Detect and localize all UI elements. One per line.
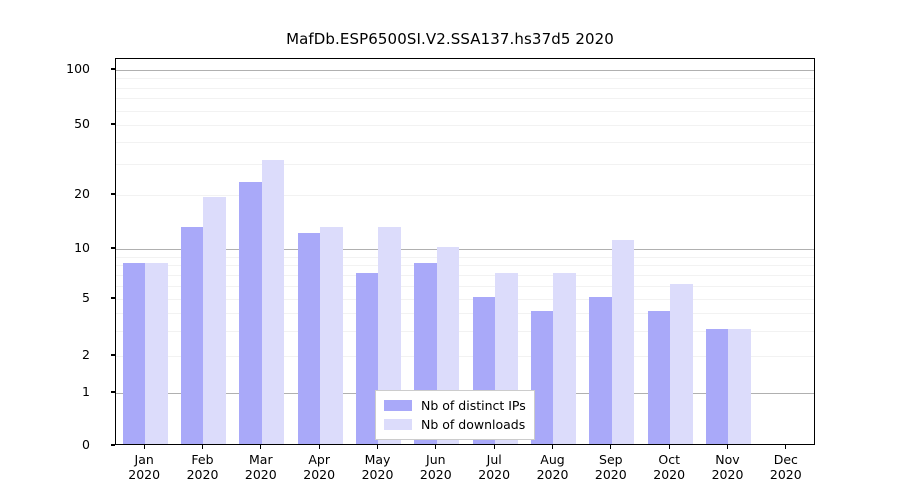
bar-group xyxy=(524,59,582,444)
x-tick-year: 2020 xyxy=(537,467,569,482)
y-tick-label: 100 xyxy=(30,61,90,76)
bar-distinct-ips xyxy=(706,329,728,444)
x-tick-mark xyxy=(669,445,670,449)
x-tick-month: Mar xyxy=(245,452,277,467)
bar-group xyxy=(583,59,641,444)
bar-group xyxy=(233,59,291,444)
x-tick-month: Feb xyxy=(187,452,219,467)
bar-distinct-ips xyxy=(298,233,320,444)
bar-distinct-ips xyxy=(123,263,145,444)
x-tick-month: Nov xyxy=(712,452,744,467)
y-tick-mark xyxy=(111,68,115,69)
x-tick-month: Jun xyxy=(420,452,452,467)
y-tick-mark xyxy=(111,123,115,124)
x-tick-mark xyxy=(144,445,145,449)
x-tick-mark xyxy=(552,445,553,449)
bar-group xyxy=(116,59,174,444)
chart-title: MafDb.ESP6500SI.V2.SSA137.hs37d5 2020 xyxy=(0,30,900,48)
bar-group xyxy=(174,59,232,444)
bar-group xyxy=(699,59,757,444)
x-tick-mark xyxy=(610,445,611,449)
y-tick-mark xyxy=(111,297,115,298)
x-tick-label: Mar2020 xyxy=(245,452,277,482)
bar-distinct-ips xyxy=(181,227,203,444)
x-tick-year: 2020 xyxy=(420,467,452,482)
y-tick-mark xyxy=(111,193,115,194)
y-tick-label: 20 xyxy=(30,186,90,201)
x-tick-month: Jan xyxy=(128,452,160,467)
legend-item-downloads: Nb of downloads xyxy=(384,415,526,434)
x-tick-year: 2020 xyxy=(187,467,219,482)
bar-downloads xyxy=(612,240,634,444)
bar-distinct-ips xyxy=(239,182,261,444)
x-tick-year: 2020 xyxy=(712,467,744,482)
x-tick-label: Dec2020 xyxy=(770,452,802,482)
x-tick-label: Jul2020 xyxy=(478,452,510,482)
x-tick-year: 2020 xyxy=(362,467,394,482)
bar-group xyxy=(466,59,524,444)
bar-group xyxy=(408,59,466,444)
bar-distinct-ips xyxy=(589,297,611,444)
x-tick-label: Feb2020 xyxy=(187,452,219,482)
bar-group xyxy=(291,59,349,444)
x-tick-mark xyxy=(202,445,203,449)
x-tick-mark xyxy=(785,445,786,449)
x-tick-mark xyxy=(435,445,436,449)
y-tick-label: 0 xyxy=(30,437,90,452)
x-tick-month: Aug xyxy=(537,452,569,467)
legend-label-downloads: Nb of downloads xyxy=(421,417,525,432)
y-tick-mark xyxy=(111,444,115,445)
legend-label-distinct-ips: Nb of distinct IPs xyxy=(421,398,526,413)
legend-item-distinct-ips: Nb of distinct IPs xyxy=(384,396,526,415)
x-tick-month: May xyxy=(362,452,394,467)
bar-distinct-ips xyxy=(648,311,670,444)
bar-group xyxy=(349,59,407,444)
bar-downloads xyxy=(728,329,750,444)
y-tick-label: 50 xyxy=(30,116,90,131)
bar-downloads xyxy=(203,197,225,444)
x-tick-year: 2020 xyxy=(770,467,802,482)
bar-downloads xyxy=(553,273,575,444)
chart-legend: Nb of distinct IPs Nb of downloads xyxy=(375,390,535,440)
x-tick-label: Sep2020 xyxy=(595,452,627,482)
bar-group xyxy=(758,59,816,444)
bar-downloads xyxy=(262,160,284,444)
y-tick-label: 2 xyxy=(30,347,90,362)
x-tick-label: Apr2020 xyxy=(303,452,335,482)
x-tick-mark xyxy=(260,445,261,449)
bar-downloads xyxy=(145,263,167,444)
x-tick-mark xyxy=(377,445,378,449)
x-tick-label: Nov2020 xyxy=(712,452,744,482)
x-tick-mark xyxy=(319,445,320,449)
x-tick-label: Oct2020 xyxy=(653,452,685,482)
x-tick-month: Sep xyxy=(595,452,627,467)
x-tick-month: Dec xyxy=(770,452,802,467)
bars-container xyxy=(116,59,814,444)
x-tick-label: May2020 xyxy=(362,452,394,482)
x-tick-mark xyxy=(494,445,495,449)
x-tick-year: 2020 xyxy=(303,467,335,482)
legend-swatch-downloads xyxy=(384,419,412,430)
plot-area xyxy=(115,58,815,445)
x-tick-month: Jul xyxy=(478,452,510,467)
x-tick-month: Apr xyxy=(303,452,335,467)
bar-downloads xyxy=(670,284,692,444)
y-tick-mark xyxy=(111,391,115,392)
x-tick-year: 2020 xyxy=(478,467,510,482)
x-tick-mark xyxy=(727,445,728,449)
x-tick-year: 2020 xyxy=(245,467,277,482)
y-tick-mark xyxy=(111,354,115,355)
y-tick-label: 10 xyxy=(30,240,90,255)
x-tick-label: Jan2020 xyxy=(128,452,160,482)
y-tick-label: 5 xyxy=(30,290,90,305)
legend-swatch-distinct-ips xyxy=(384,400,412,411)
bar-group xyxy=(641,59,699,444)
x-tick-label: Jun2020 xyxy=(420,452,452,482)
x-tick-year: 2020 xyxy=(653,467,685,482)
x-tick-label: Aug2020 xyxy=(537,452,569,482)
x-tick-year: 2020 xyxy=(128,467,160,482)
y-tick-mark xyxy=(111,247,115,248)
y-tick-label: 1 xyxy=(30,384,90,399)
x-tick-month: Oct xyxy=(653,452,685,467)
x-tick-year: 2020 xyxy=(595,467,627,482)
bar-downloads xyxy=(320,227,342,444)
chart-figure: MafDb.ESP6500SI.V2.SSA137.hs37d5 2020 Nb… xyxy=(0,0,900,500)
